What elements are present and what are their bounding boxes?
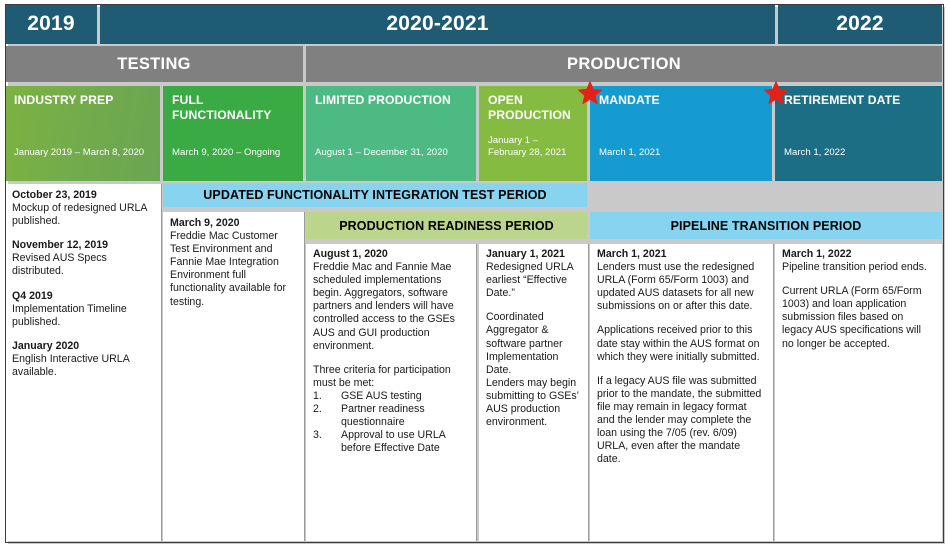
detail-text: Pipeline transition period ends. [782,261,935,274]
phase-full-functionality-dates: March 9, 2020 – Ongoing [172,147,295,159]
band-production-readiness-label: PRODUCTION READINESS PERIOD [339,219,554,233]
criteria-text: Partner readiness questionnaire [341,403,425,428]
group-header-testing-label: TESTING [117,55,191,74]
milestone-text: English Interactive URLA available. [12,353,154,379]
detail-text: Freddie Mac and Fannie Mae scheduled imp… [313,261,469,353]
milestone-text: Revised AUS Specs distributed. [12,252,154,278]
phase-limited-production-title: LIMITED PRODUCTION [315,93,468,108]
criteria-item: 1. GSE AUS testing [313,390,469,403]
detail-text-3: If a legacy AUS file was submitted prior… [597,375,766,467]
detail-text-2: Applications received prior to this date… [597,324,766,363]
body-column-march-1-2021: March 1, 2021 Lenders must use the redes… [590,244,774,541]
phase-open-production-title: OPEN PRODUCTION [488,93,579,122]
year-header-2019: 2019 [5,4,97,44]
milestone-date: Q4 2019 [12,290,154,303]
detail-date: March 1, 2022 [782,248,935,261]
criteria-text: GSE AUS testing [341,390,422,402]
criteria-item: 3. Approval to use URLA before Effective… [313,429,469,455]
phase-industry-prep: INDUSTRY PREP January 2019 – March 8, 20… [5,86,160,181]
phase-limited-production-dates: August 1 – December 31, 2020 [315,147,468,159]
band-pipeline-transition-period: PIPELINE TRANSITION PERIOD [590,212,942,239]
band-updated-functionality-label: UPDATED FUNCTIONALITY INTEGRATION TEST P… [203,188,546,202]
milestone-text: Mockup of redesigned URLA published. [12,202,154,228]
criteria-intro: Three criteria for participation must be… [313,364,469,390]
phase-mandate-dates: March 1, 2021 [599,147,764,159]
phase-full-functionality: FULL FUNCTIONALITY March 9, 2020 – Ongoi… [163,86,303,181]
body-column-march-9-2020: March 9, 2020 Freddie Mac Customer Test … [163,212,305,541]
band-pipeline-transition-label: PIPELINE TRANSITION PERIOD [671,219,862,233]
milestone-text: Implementation Timeline published. [12,303,154,329]
year-header-2020-2021-label: 2020-2021 [386,12,488,36]
milestone-date: October 23, 2019 [12,189,154,202]
detail-august-1-2020: August 1, 2020 Freddie Mac and Fannie Ma… [313,248,469,455]
phase-retirement-date-dates: March 1, 2022 [784,147,934,159]
year-header-2022-label: 2022 [836,12,884,36]
milestone-date: November 12, 2019 [12,239,154,252]
detail-text: Redesigned URLA earliest “Effective Date… [486,261,581,300]
body-column-august-1-2020: August 1, 2020 Freddie Mac and Fannie Ma… [306,244,477,541]
phase-open-production: OPEN PRODUCTION January 1 – February 28,… [479,86,587,181]
criteria-number: 3. [313,429,322,442]
body-column-march-1-2022: March 1, 2022 Pipeline transition period… [775,244,942,541]
milestone-q4-2019: Q4 2019 Implementation Timeline publishe… [12,290,154,329]
phase-industry-prep-title: INDUSTRY PREP [14,93,152,108]
body-column-2019-milestones: October 23, 2019 Mockup of redesigned UR… [5,184,162,541]
detail-march-9-2020: March 9, 2020 Freddie Mac Customer Test … [170,217,297,309]
criteria-item: 2. Partner readiness questionnaire [313,403,469,429]
band-updated-functionality-integration-test-period: UPDATED FUNCTIONALITY INTEGRATION TEST P… [163,183,587,207]
detail-date: March 1, 2021 [597,248,766,261]
milestone-november-12-2019: November 12, 2019 Revised AUS Specs dist… [12,239,154,278]
urla-implementation-timeline: 2019 2020-2021 2022 TESTING PRODUCTION I… [0,0,950,551]
detail-march-1-2021: March 1, 2021 Lenders must use the redes… [597,248,766,466]
group-header-production-label: PRODUCTION [567,55,681,74]
phase-open-production-dates: January 1 – February 28, 2021 [488,135,579,159]
phase-mandate-title: MANDATE [599,93,764,108]
phase-retirement-date: RETIREMENT DATE March 1, 2022 [775,86,942,181]
phase-limited-production: LIMITED PRODUCTION August 1 – December 3… [306,86,476,181]
phase-industry-prep-dates: January 2019 – March 8, 2020 [14,147,152,159]
phase-full-functionality-title: FULL FUNCTIONALITY [172,93,295,122]
criteria-number: 2. [313,403,322,416]
detail-text: Lenders must use the redesigned URLA (Fo… [597,261,766,313]
year-header-2022: 2022 [778,4,942,44]
criteria-text: Approval to use URLA before Effective Da… [341,429,445,454]
detail-text-2: Current URLA (Form 65/Form 1003) and loa… [782,285,935,350]
group-header-production: PRODUCTION [306,46,942,82]
band-production-readiness-period: PRODUCTION READINESS PERIOD [306,212,587,239]
phase-retirement-date-title: RETIREMENT DATE [784,93,934,108]
detail-date: August 1, 2020 [313,248,469,261]
criteria-list: 1. GSE AUS testing 2. Partner readiness … [313,390,469,455]
phase-mandate: MANDATE March 1, 2021 [590,86,772,181]
criteria-number: 1. [313,390,322,403]
group-header-testing: TESTING [5,46,303,82]
year-header-2020-2021: 2020-2021 [100,4,775,44]
detail-date: January 1, 2021 [486,248,581,261]
body-column-january-1-2021: January 1, 2021 Redesigned URLA earliest… [479,244,589,541]
milestone-january-2020: January 2020 English Interactive URLA av… [12,340,154,379]
milestone-date: January 2020 [12,340,154,353]
milestone-october-23-2019: October 23, 2019 Mockup of redesigned UR… [12,189,154,228]
detail-march-1-2022: March 1, 2022 Pipeline transition period… [782,248,935,351]
detail-date: March 9, 2020 [170,217,297,230]
year-header-2019-label: 2019 [27,12,75,36]
detail-text-2: Coordinated Aggregator & software partne… [486,311,581,376]
detail-text: Freddie Mac Customer Test Environment an… [170,230,297,309]
detail-january-1-2021: January 1, 2021 Redesigned URLA earliest… [486,248,581,429]
detail-text-3: Lenders may begin submitting to GSEs’ AU… [486,377,581,429]
